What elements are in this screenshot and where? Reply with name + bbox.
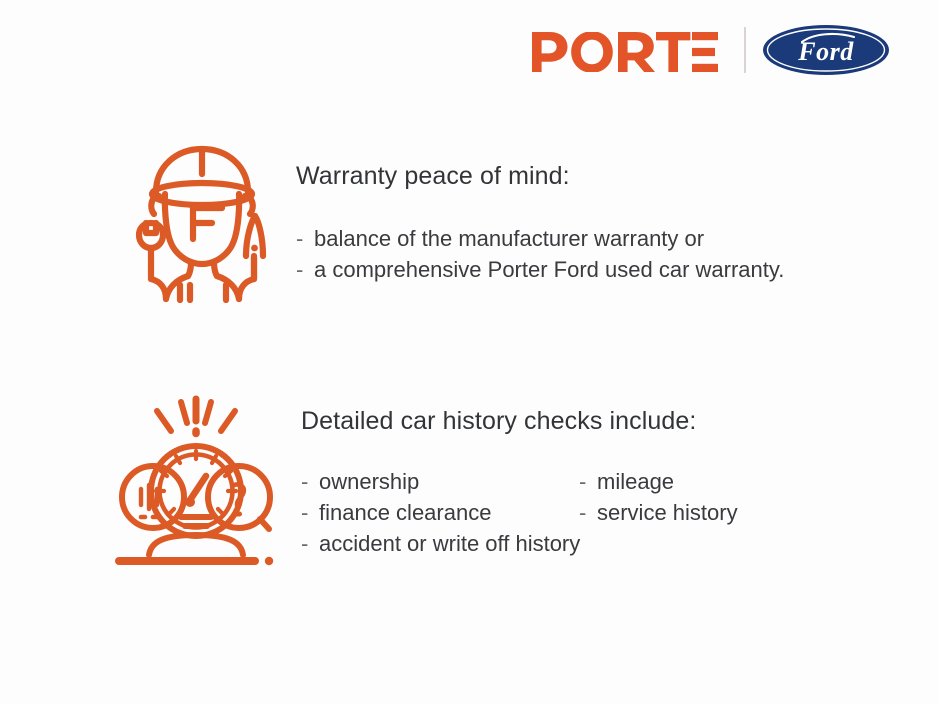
history-heading: Detailed car history checks include: (301, 407, 738, 436)
bullet-text: accident or write off history (319, 528, 580, 559)
list-item: - ownership (301, 466, 579, 497)
list-item: - finance clearance (301, 497, 579, 528)
bullet-dash: - (579, 497, 597, 528)
bullet-dash: - (579, 466, 597, 497)
bullet-text: ownership (319, 466, 419, 497)
history-bullet-grid: - ownership - mileage - finance clearanc… (301, 466, 738, 560)
slide-canvas: Ford (0, 0, 938, 704)
porter-wordmark (532, 28, 728, 72)
list-item: - accident or write off history (301, 528, 738, 559)
section-history-checks: Detailed car history checks include: - o… (105, 393, 738, 571)
bullet-dash: - (301, 528, 319, 559)
logo-divider (744, 27, 746, 73)
warranty-heading: Warranty peace of mind: (296, 162, 784, 191)
warranty-bullet-list: - balance of the manufacturer warranty o… (296, 223, 784, 285)
bullet-text: service history (597, 497, 738, 528)
bullet-dash: - (301, 497, 319, 528)
bullet-text: finance clearance (319, 497, 491, 528)
bullet-dash: - (296, 223, 314, 254)
dashboard-gauge-cluster-warning-icon (105, 393, 287, 571)
mechanic-hardhat-tools-icon (118, 138, 288, 303)
history-text-column: Detailed car history checks include: - o… (287, 393, 738, 560)
ford-oval-logo: Ford (762, 24, 890, 76)
brand-logo-bar: Ford (532, 24, 890, 76)
svg-text:Ford: Ford (797, 37, 854, 66)
warranty-text-column: Warranty peace of mind: - balance of the… (288, 138, 784, 285)
list-item: - service history (579, 497, 738, 528)
bullet-text: mileage (597, 466, 674, 497)
bullet-text: balance of the manufacturer warranty or (314, 223, 704, 254)
bullet-dash: - (296, 254, 314, 285)
list-item: - balance of the manufacturer warranty o… (296, 223, 784, 254)
list-item: - mileage (579, 466, 738, 497)
section-warranty: Warranty peace of mind: - balance of the… (118, 138, 784, 303)
list-item: - a comprehensive Porter Ford used car w… (296, 254, 784, 285)
bullet-dash: - (301, 466, 319, 497)
bullet-text: a comprehensive Porter Ford used car war… (314, 254, 784, 285)
